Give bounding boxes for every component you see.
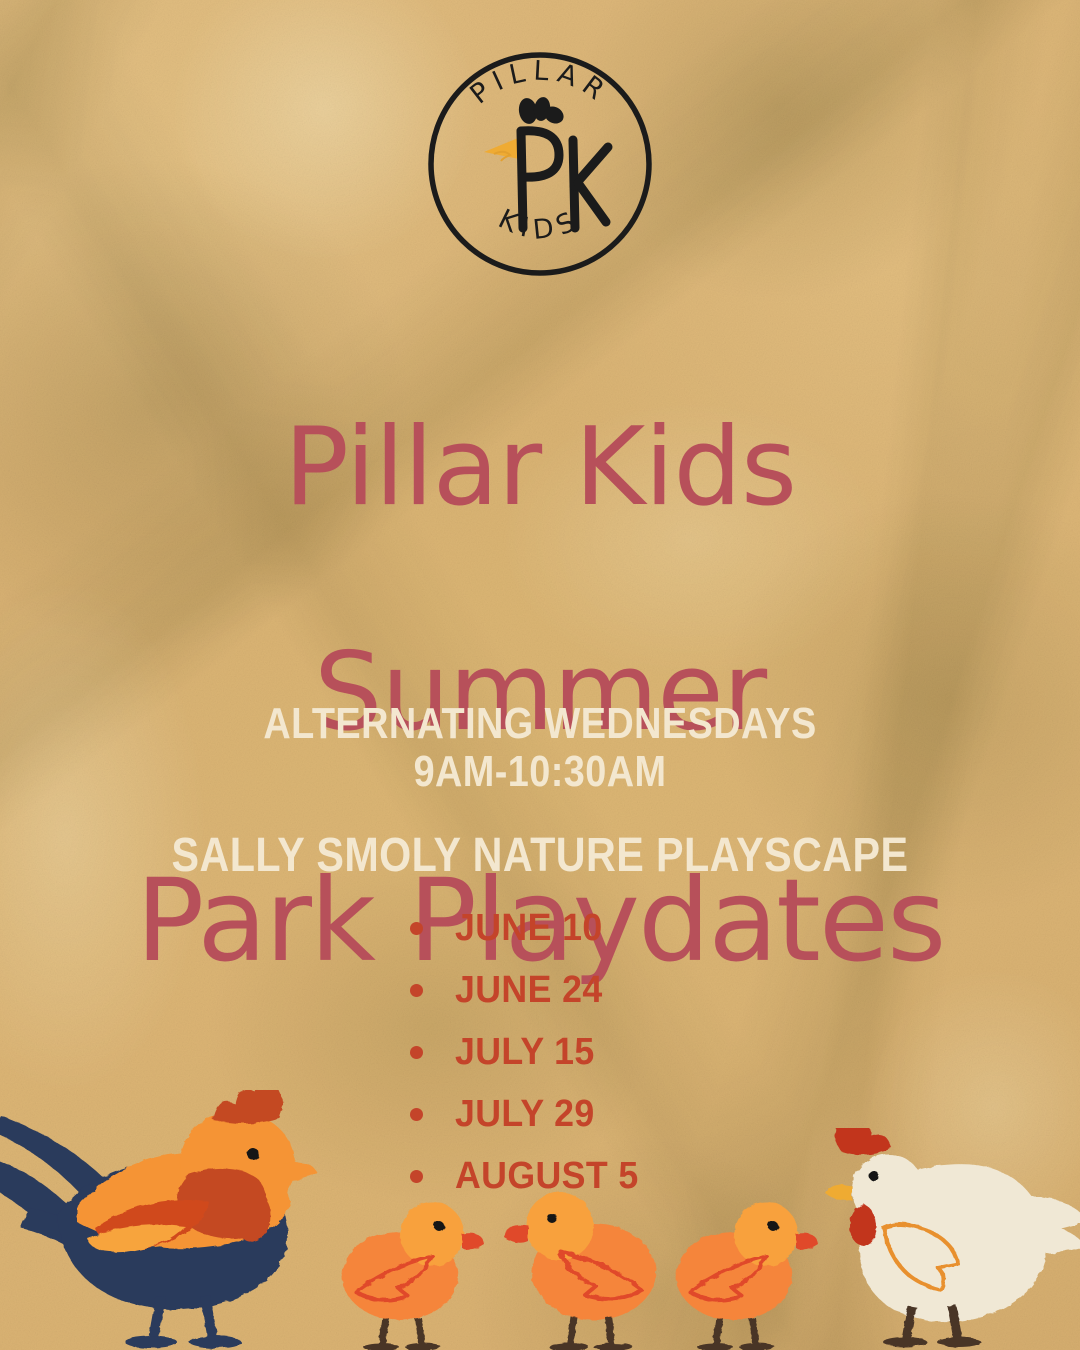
chick-leg-left xyxy=(608,1317,612,1346)
logo-letter-p-bowl xyxy=(521,131,559,177)
chick-eye xyxy=(547,1213,557,1223)
chick-leg-right xyxy=(752,1318,756,1346)
hen-icon xyxy=(822,1128,1080,1350)
chick-foot-right xyxy=(405,1343,441,1350)
schedule-block: ALTERNATING WEDNESDAYS 9AM-10:30AM xyxy=(0,700,1080,795)
hen-beak xyxy=(826,1185,852,1200)
chick-icon xyxy=(672,1190,822,1350)
venue-name: SALLY SMOLY NATURE PLAYSCAPE xyxy=(76,828,1005,883)
chick-beak xyxy=(796,1233,818,1249)
bullet-icon xyxy=(410,922,423,935)
rooster-eye xyxy=(247,1148,259,1160)
chick-eye xyxy=(768,1221,778,1231)
chick-foot-left xyxy=(697,1343,733,1350)
chick-eye xyxy=(434,1221,444,1231)
hen-foot-right xyxy=(937,1337,981,1347)
hen-leg-right xyxy=(952,1306,958,1340)
logo-letter-k-lower-leg xyxy=(578,183,606,222)
date-label: JUNE 24 xyxy=(455,969,603,1012)
list-item: JUNE 10 xyxy=(410,897,650,959)
list-item: JUNE 24 xyxy=(410,959,650,1021)
rooster-comb xyxy=(213,1090,283,1124)
logo-stamp-icon: PILLAR KIDS xyxy=(428,52,652,276)
hen-foot-left xyxy=(883,1337,927,1347)
chick-foot-right xyxy=(739,1343,775,1350)
chick-leg-right xyxy=(570,1317,574,1346)
chick-illustration-1 xyxy=(338,1190,488,1350)
bullet-icon xyxy=(410,984,423,997)
rooster-beak xyxy=(283,1162,317,1180)
rooster-illustration xyxy=(0,1090,335,1350)
chick-foot-left xyxy=(363,1343,399,1350)
chick-foot-right xyxy=(550,1343,588,1350)
hen-eye xyxy=(869,1171,879,1181)
schedule-time: 9AM-10:30AM xyxy=(76,748,1005,796)
chick-leg-left xyxy=(716,1318,720,1346)
chick-illustration-3 xyxy=(672,1190,822,1350)
chick-leg-left xyxy=(382,1318,386,1346)
chick-icon xyxy=(338,1190,488,1350)
chick-illustration-2 xyxy=(500,1180,660,1350)
schedule-frequency: ALTERNATING WEDNESDAYS xyxy=(76,700,1005,748)
rooster-foot-right xyxy=(189,1336,241,1348)
bird-illustration-row xyxy=(0,1030,1080,1350)
chick-beak xyxy=(504,1225,528,1243)
rooster-icon xyxy=(0,1090,335,1350)
poster-canvas: PILLAR KIDS Pillar Kids Summer Park xyxy=(0,0,1080,1350)
hen-comb xyxy=(835,1128,892,1155)
chick-leg-right xyxy=(418,1318,422,1346)
pillar-kids-logo: PILLAR KIDS xyxy=(428,52,652,276)
rooster-foot-left xyxy=(125,1336,177,1348)
chick-foot-left xyxy=(594,1343,632,1350)
chick-beak xyxy=(462,1233,484,1249)
chick-icon xyxy=(500,1180,660,1350)
hen-leg-left xyxy=(906,1306,912,1340)
title-line-1: Pillar Kids xyxy=(0,412,1080,524)
date-label: JUNE 10 xyxy=(455,907,603,950)
chick-head xyxy=(526,1192,594,1260)
white-hen-illustration xyxy=(822,1128,1080,1350)
